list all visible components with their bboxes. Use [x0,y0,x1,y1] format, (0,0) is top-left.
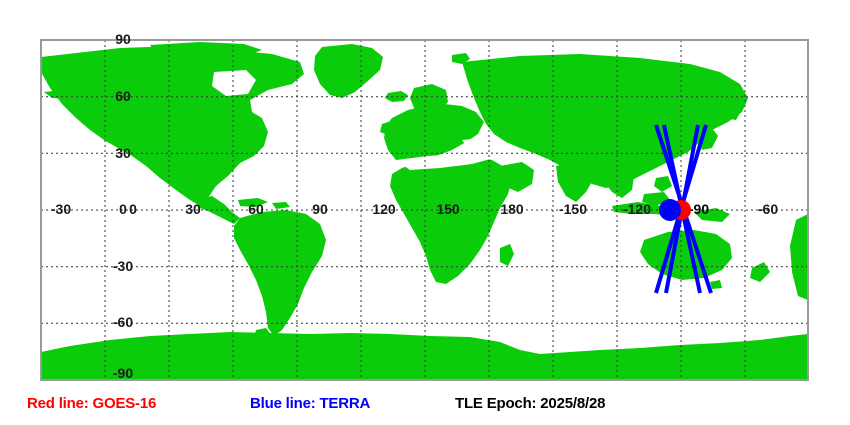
lon-tick-label: 90 [312,201,328,217]
lat-tick-label: 0 [119,201,127,217]
legend-tle-epoch: TLE Epoch: 2025/8/28 [455,395,605,412]
lon-tick-label: 30 [185,201,201,217]
legend-red-line-goes16: Red line: GOES-16 [27,395,156,412]
lat-tick-label: 90 [115,31,131,47]
map-canvas: -30 0 30 60 90 120 150 180 -150 -120 -90… [0,0,850,392]
lon-tick-label: -120 [623,201,651,217]
lon-tick-label: -150 [559,201,587,217]
lon-tick-label: -60 [758,201,778,217]
lat-tick-label: -30 [113,258,133,274]
satellite-markers-group [659,199,691,221]
legend-blue-line-terra: Blue line: TERRA [250,395,370,412]
lat-tick-label: -60 [113,314,133,330]
lon-tick-label: 150 [436,201,460,217]
lon-tick-label: 120 [372,201,396,217]
lon-tick-label: 180 [500,201,524,217]
world-map-panel: -30 0 30 60 90 120 150 180 -150 -120 -90… [0,0,850,392]
satellite-marker-terra[interactable] [659,199,681,221]
lon-tick-label-obscured: -90 [689,201,709,217]
lat-tick-label: 30 [115,145,131,161]
lon-tick-label: 60 [248,201,264,217]
lon-tick-label: -30 [51,201,71,217]
lat-tick-label: -90 [113,365,133,381]
lat-tick-label: 60 [115,88,131,104]
legend-bar: Red line: GOES-16 Blue line: TERRA TLE E… [0,392,850,425]
lon-tick-label: 0 [129,201,137,217]
